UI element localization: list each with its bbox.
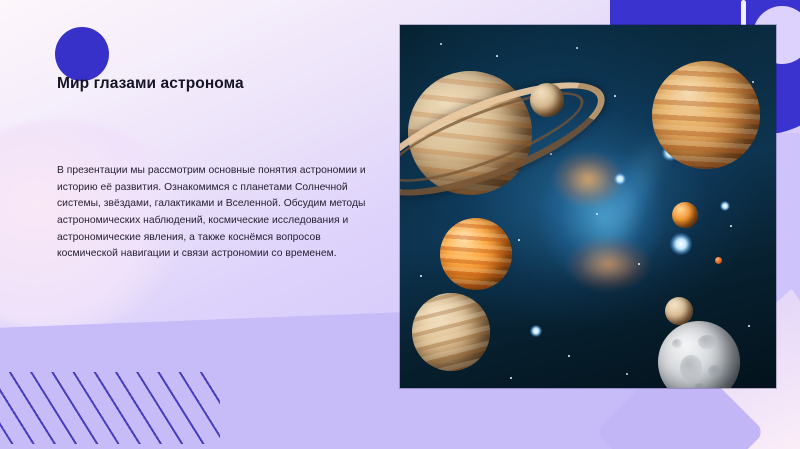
- small-tan-planet: [530, 83, 564, 117]
- star-icon: [550, 153, 552, 155]
- decor-circle-blue: [55, 27, 109, 81]
- jupiter-bands: [652, 61, 760, 169]
- crater: [694, 383, 706, 388]
- star-icon: [420, 275, 422, 277]
- crater: [672, 339, 682, 348]
- star-icon: [510, 377, 512, 379]
- star-icon: [496, 55, 498, 57]
- orange-planet-bands: [440, 218, 512, 290]
- star-icon: [626, 373, 628, 375]
- tan-planet-bands: [412, 293, 490, 371]
- space-illustration: [400, 25, 776, 388]
- small-orange-planet: [672, 202, 698, 228]
- star-icon: [638, 263, 640, 265]
- crater: [680, 355, 702, 381]
- tiny-red-planet: [715, 257, 722, 264]
- bright-star-icon: [670, 233, 692, 255]
- star-icon: [730, 225, 732, 227]
- bright-star-icon: [720, 201, 730, 211]
- bright-star-icon: [614, 173, 626, 185]
- presentation-slide: Мир глазами астронома В презентации мы р…: [0, 0, 800, 449]
- star-icon: [568, 355, 570, 357]
- crater: [698, 335, 716, 349]
- slide-title: Мир глазами астронома: [57, 74, 377, 93]
- small-tan-planet-2: [665, 297, 693, 325]
- bright-star-icon: [530, 325, 542, 337]
- star-icon: [752, 81, 754, 83]
- star-icon: [576, 47, 578, 49]
- crater: [708, 365, 722, 377]
- star-icon: [440, 43, 442, 45]
- star-icon: [518, 239, 520, 241]
- star-icon: [748, 325, 750, 327]
- star-icon: [614, 95, 616, 97]
- decor-hatch-lines: [0, 372, 220, 444]
- slide-body-text: В презентации мы рассмотрим основные пон…: [57, 163, 372, 263]
- star-icon: [596, 213, 598, 215]
- text-column: Мир глазами астронома: [57, 74, 377, 93]
